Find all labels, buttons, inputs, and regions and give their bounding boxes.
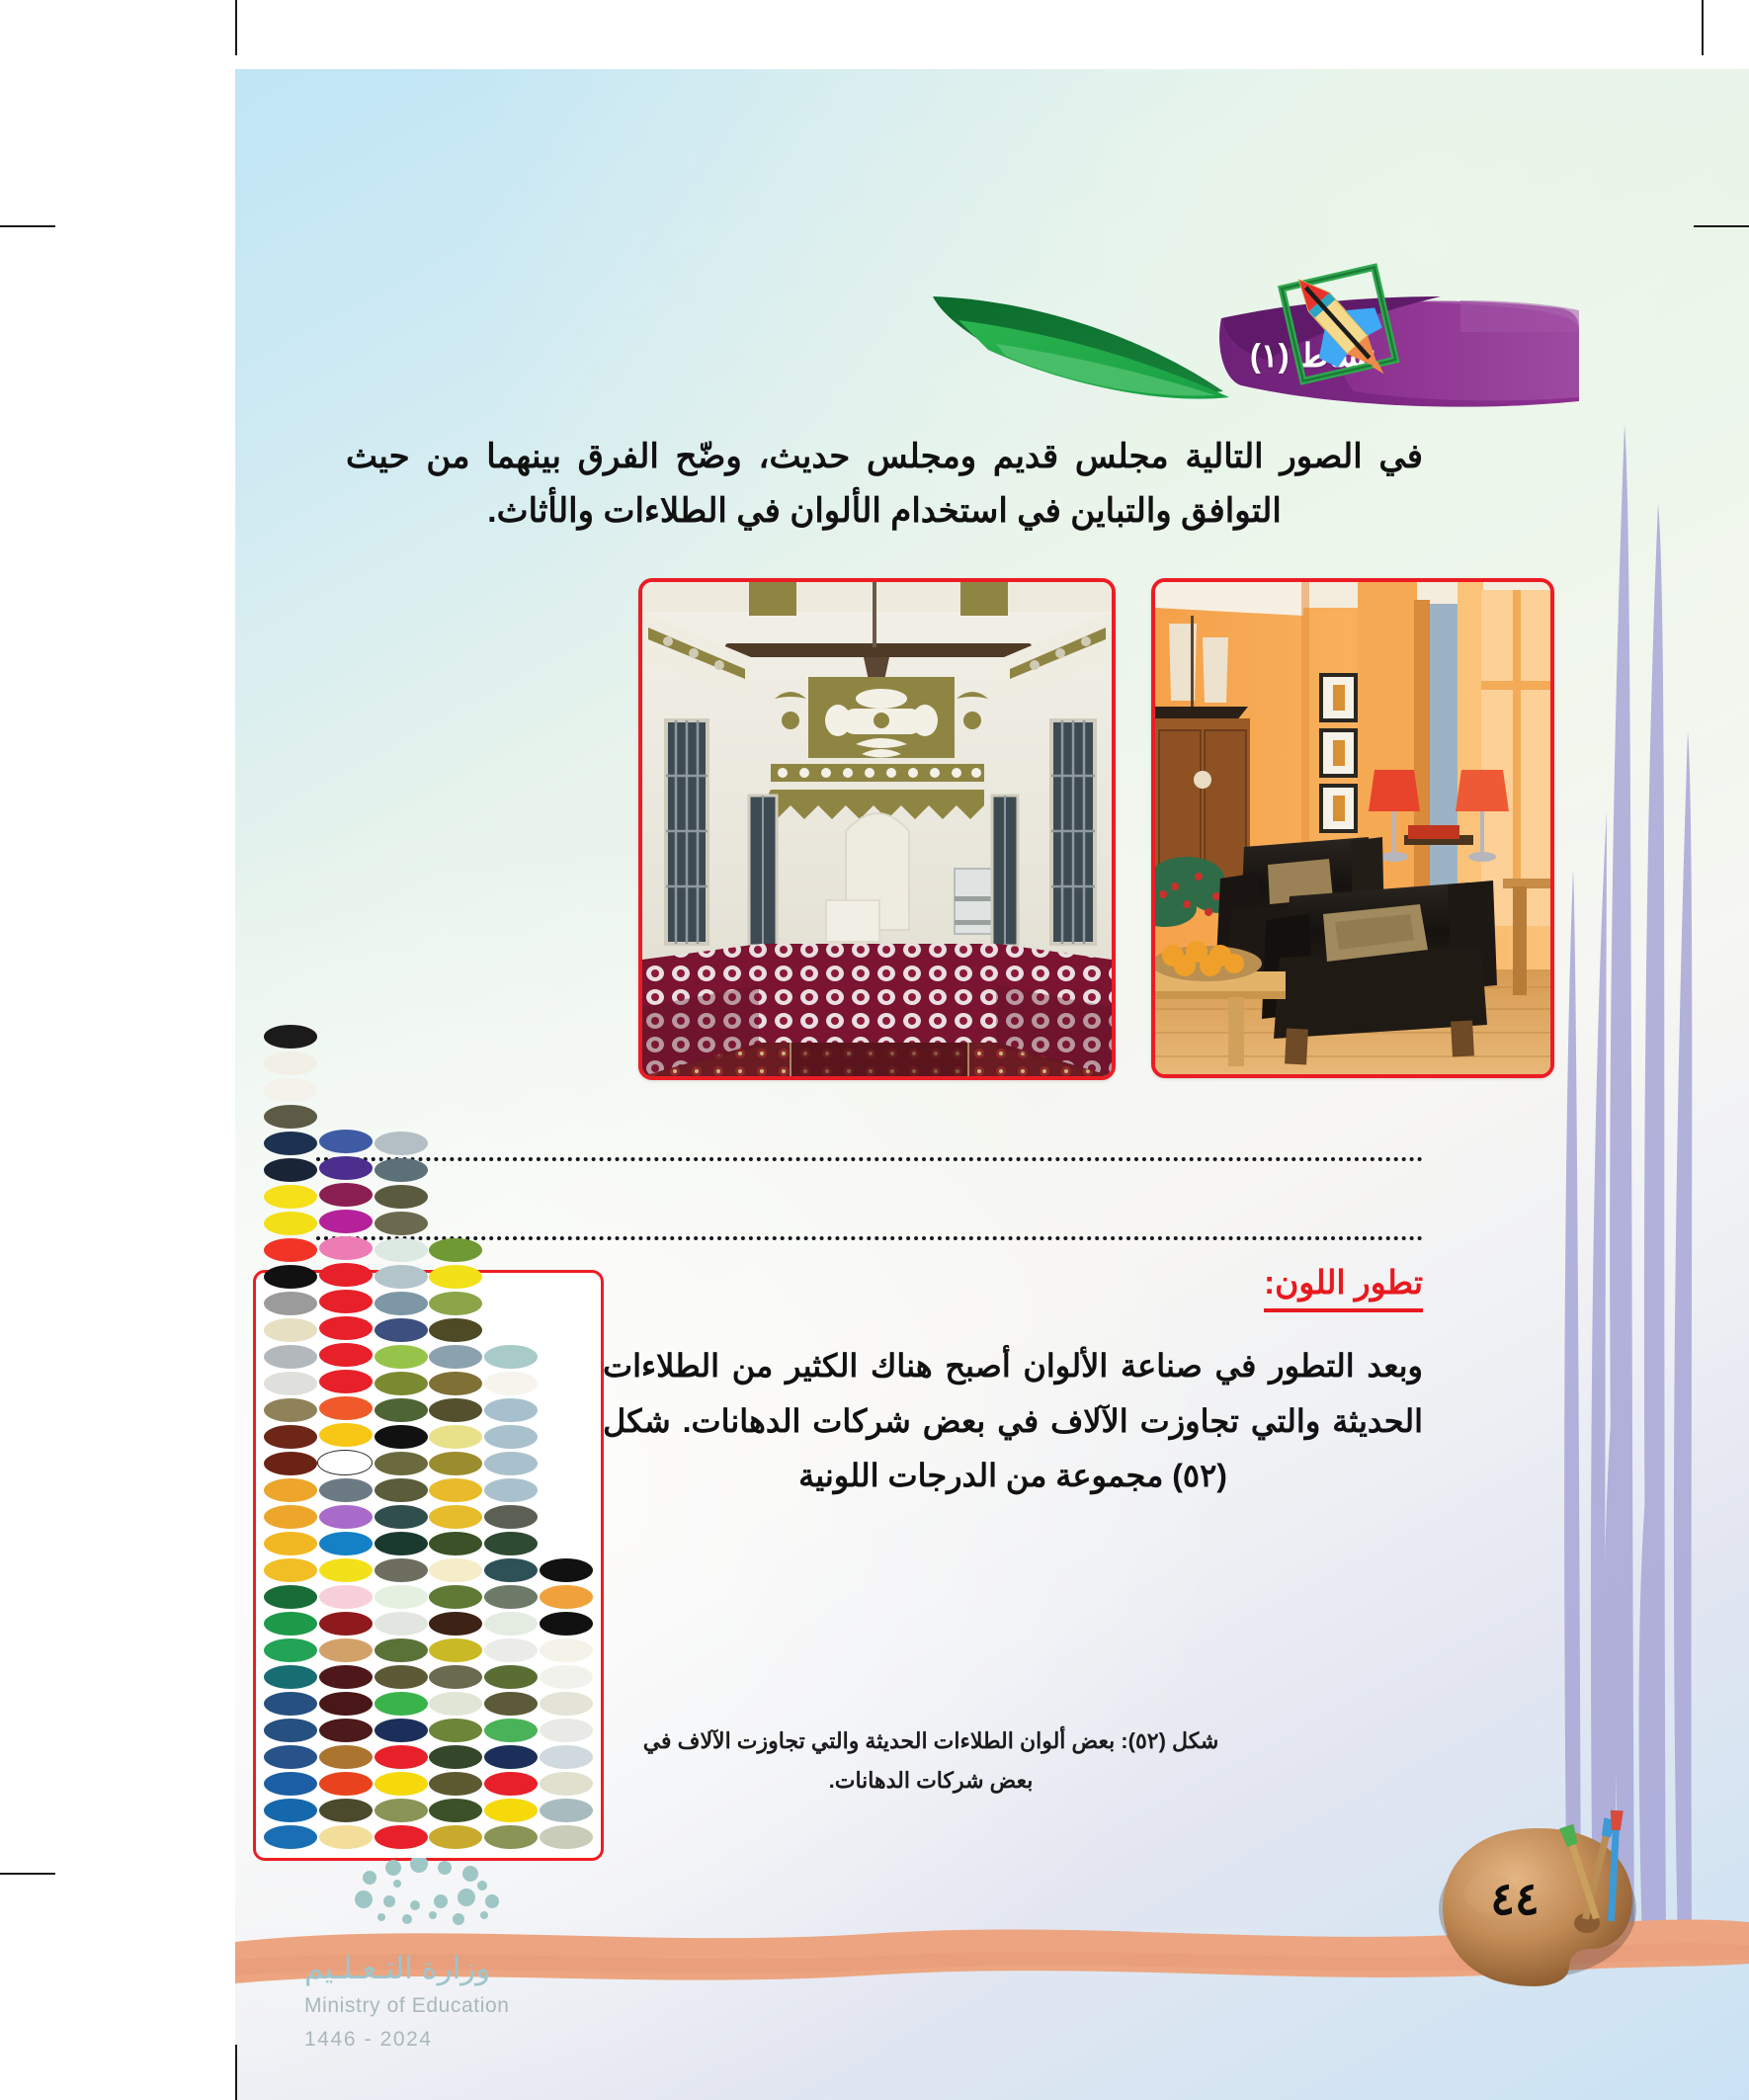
answer-line-2[interactable] bbox=[316, 1191, 1423, 1240]
color-swatch bbox=[484, 1825, 538, 1849]
color-swatch bbox=[484, 1585, 538, 1609]
color-swatch bbox=[375, 1478, 428, 1502]
color-swatch bbox=[319, 1612, 373, 1636]
rocket-pencil-icon bbox=[1266, 261, 1412, 389]
color-swatch bbox=[375, 1292, 428, 1315]
color-swatch bbox=[375, 1745, 428, 1769]
color-swatch bbox=[319, 1183, 373, 1207]
color-swatch bbox=[429, 1532, 482, 1555]
section-body-text: وبعد التطور في صناعة الألوان أصبح هناك ا… bbox=[603, 1339, 1423, 1504]
color-swatch bbox=[264, 1638, 317, 1662]
color-swatch bbox=[429, 1505, 482, 1529]
photo-row bbox=[235, 578, 1749, 1082]
color-swatch bbox=[375, 1212, 428, 1235]
color-swatch bbox=[319, 1638, 373, 1662]
color-swatch bbox=[264, 1825, 317, 1849]
color-swatch bbox=[429, 1692, 482, 1716]
color-swatch bbox=[375, 1452, 428, 1475]
color-swatch bbox=[264, 1745, 317, 1769]
color-swatch bbox=[319, 1558, 373, 1582]
color-swatch bbox=[319, 1343, 373, 1367]
color-swatch bbox=[429, 1452, 482, 1475]
color-swatch bbox=[484, 1532, 538, 1555]
color-swatch bbox=[375, 1398, 428, 1422]
color-swatch bbox=[375, 1238, 428, 1262]
color-swatch bbox=[264, 1719, 317, 1742]
color-swatch bbox=[484, 1638, 538, 1662]
figure-caption: شكل (٥٢): بعض ألوان الطلاءات الحديثة وال… bbox=[634, 1722, 1227, 1801]
swatch-column-3 bbox=[375, 1132, 428, 1849]
crop-mark-bottom-left-vertical bbox=[235, 2045, 237, 2100]
color-swatch bbox=[264, 1558, 317, 1582]
color-swatch bbox=[375, 1612, 428, 1636]
color-swatch bbox=[264, 1212, 317, 1235]
color-swatch bbox=[264, 1425, 317, 1449]
color-swatch bbox=[484, 1719, 538, 1742]
color-swatch bbox=[375, 1558, 428, 1582]
color-swatch bbox=[375, 1532, 428, 1555]
color-swatch bbox=[264, 1025, 317, 1049]
color-swatch bbox=[484, 1452, 538, 1475]
color-swatch bbox=[484, 1692, 538, 1716]
color-swatch bbox=[375, 1772, 428, 1796]
color-swatch bbox=[540, 1799, 593, 1822]
color-swatch bbox=[540, 1825, 593, 1849]
color-swatch bbox=[540, 1745, 593, 1769]
color-swatch bbox=[429, 1318, 482, 1342]
color-swatch bbox=[319, 1290, 373, 1313]
color-swatch bbox=[484, 1799, 538, 1822]
color-swatch bbox=[484, 1398, 538, 1422]
crop-mark-top-left-horizontal bbox=[0, 225, 55, 227]
activity-banner: نشاط (١) bbox=[927, 275, 1579, 423]
traditional-majlis-photo bbox=[638, 578, 1116, 1080]
color-swatch bbox=[429, 1612, 482, 1636]
page-number-badge: ٤٤ bbox=[1421, 1808, 1668, 1996]
page-number: ٤٤ bbox=[1421, 1872, 1609, 1925]
color-swatch bbox=[319, 1692, 373, 1716]
color-swatch bbox=[429, 1558, 482, 1582]
color-swatch bbox=[375, 1132, 428, 1155]
color-swatch bbox=[319, 1370, 373, 1393]
color-swatch bbox=[429, 1745, 482, 1769]
color-swatch bbox=[319, 1156, 373, 1180]
crop-mark-top-left-vertical bbox=[235, 0, 237, 55]
color-swatch bbox=[375, 1825, 428, 1849]
color-swatch bbox=[319, 1396, 373, 1420]
color-swatch bbox=[484, 1665, 538, 1689]
color-swatch bbox=[264, 1799, 317, 1822]
color-swatch bbox=[429, 1345, 482, 1369]
color-swatch bbox=[540, 1772, 593, 1796]
color-swatch bbox=[375, 1372, 428, 1395]
color-swatch bbox=[429, 1719, 482, 1742]
color-swatch bbox=[484, 1372, 538, 1395]
color-swatch bbox=[319, 1745, 373, 1769]
textbook-page: نشاط (١) في الصور التالية مجلس قديم ومجل… bbox=[235, 69, 1749, 2100]
color-swatch bbox=[484, 1478, 538, 1502]
color-swatch bbox=[429, 1292, 482, 1315]
swatch-grid bbox=[264, 1282, 593, 1849]
ministry-name-english: Ministry of Education bbox=[304, 1994, 510, 2018]
color-swatch bbox=[375, 1585, 428, 1609]
color-swatch bbox=[540, 1665, 593, 1689]
color-swatch bbox=[484, 1745, 538, 1769]
color-swatch bbox=[375, 1318, 428, 1342]
modern-living-room-photo bbox=[1151, 578, 1554, 1078]
color-swatch bbox=[540, 1612, 593, 1636]
color-swatch bbox=[319, 1236, 373, 1260]
color-swatch bbox=[484, 1425, 538, 1449]
color-swatch bbox=[375, 1692, 428, 1716]
swatch-column-1 bbox=[264, 1025, 317, 1849]
color-swatch bbox=[319, 1478, 373, 1502]
color-swatch bbox=[264, 1478, 317, 1502]
color-swatch bbox=[319, 1532, 373, 1555]
color-swatch bbox=[264, 1238, 317, 1262]
swatch-column-2 bbox=[319, 1130, 373, 1849]
color-swatch bbox=[429, 1265, 482, 1289]
crop-mark-top-right-horizontal bbox=[1694, 225, 1749, 227]
color-swatch bbox=[375, 1799, 428, 1822]
ministry-logo: وزارة التـعـلـيم Ministry of Education 2… bbox=[294, 1858, 611, 2070]
color-swatch bbox=[429, 1425, 482, 1449]
color-swatch bbox=[264, 1292, 317, 1315]
color-swatch bbox=[375, 1505, 428, 1529]
color-swatch bbox=[319, 1210, 373, 1233]
color-swatch bbox=[264, 1345, 317, 1369]
color-swatch bbox=[429, 1372, 482, 1395]
color-swatch bbox=[375, 1719, 428, 1742]
color-swatch bbox=[484, 1345, 538, 1369]
color-swatch bbox=[540, 1638, 593, 1662]
color-swatch-chart bbox=[253, 1270, 604, 1861]
color-swatch bbox=[264, 1185, 317, 1209]
color-swatch bbox=[319, 1799, 373, 1822]
color-swatch bbox=[319, 1665, 373, 1689]
color-swatch bbox=[264, 1372, 317, 1395]
color-swatch bbox=[264, 1105, 317, 1129]
color-swatch bbox=[375, 1158, 428, 1182]
answer-lines bbox=[316, 1112, 1423, 1240]
ministry-name-arabic: وزارة التـعـلـيم bbox=[304, 1951, 490, 1986]
swatch-column-4 bbox=[429, 1238, 482, 1849]
color-swatch bbox=[319, 1585, 373, 1609]
color-swatch bbox=[319, 1263, 373, 1287]
color-swatch bbox=[429, 1478, 482, 1502]
color-swatch bbox=[264, 1532, 317, 1555]
color-swatch bbox=[317, 1450, 373, 1475]
color-swatch bbox=[264, 1265, 317, 1289]
color-swatch bbox=[264, 1132, 317, 1155]
color-swatch bbox=[375, 1638, 428, 1662]
color-swatch bbox=[264, 1505, 317, 1529]
color-swatch bbox=[375, 1425, 428, 1449]
crop-mark-top-right-vertical bbox=[1702, 0, 1704, 55]
color-swatch bbox=[375, 1185, 428, 1209]
section-heading: تطور اللون: bbox=[1264, 1263, 1423, 1312]
color-swatch bbox=[429, 1799, 482, 1822]
color-swatch bbox=[429, 1238, 482, 1262]
color-swatch bbox=[264, 1585, 317, 1609]
swatch-column-6 bbox=[540, 1558, 593, 1849]
color-swatch bbox=[429, 1772, 482, 1796]
activity-prompt: في الصور التالية مجلس قديم ومجلس حديث، و… bbox=[346, 430, 1423, 539]
color-swatch bbox=[429, 1585, 482, 1609]
color-swatch bbox=[540, 1692, 593, 1716]
color-swatch bbox=[429, 1638, 482, 1662]
color-swatch bbox=[484, 1612, 538, 1636]
color-swatch bbox=[484, 1505, 538, 1529]
color-swatch bbox=[264, 1051, 317, 1075]
crop-mark-bottom-left-horizontal bbox=[0, 1873, 55, 1875]
color-swatch bbox=[375, 1265, 428, 1289]
color-swatch bbox=[319, 1825, 373, 1849]
color-swatch bbox=[375, 1665, 428, 1689]
color-swatch bbox=[319, 1423, 373, 1447]
color-swatch bbox=[540, 1719, 593, 1742]
color-swatch bbox=[264, 1318, 317, 1342]
ministry-dots-icon bbox=[334, 1858, 581, 1947]
color-swatch bbox=[540, 1585, 593, 1609]
color-swatch bbox=[264, 1452, 317, 1475]
color-swatch bbox=[264, 1692, 317, 1716]
color-swatch bbox=[264, 1078, 317, 1102]
color-swatch bbox=[429, 1398, 482, 1422]
swatch-column-5 bbox=[484, 1345, 538, 1849]
color-swatch bbox=[429, 1665, 482, 1689]
color-swatch bbox=[319, 1719, 373, 1742]
answer-line-1[interactable] bbox=[316, 1112, 1423, 1161]
color-swatch bbox=[264, 1398, 317, 1422]
color-swatch bbox=[264, 1158, 317, 1182]
color-swatch bbox=[375, 1345, 428, 1369]
color-swatch bbox=[319, 1316, 373, 1340]
color-swatch bbox=[319, 1772, 373, 1796]
color-swatch bbox=[484, 1558, 538, 1582]
color-swatch bbox=[429, 1825, 482, 1849]
color-swatch bbox=[319, 1130, 373, 1153]
color-swatch bbox=[264, 1772, 317, 1796]
color-swatch bbox=[319, 1505, 373, 1529]
color-swatch bbox=[484, 1772, 538, 1796]
ministry-year: 2024 - 1446 bbox=[304, 2028, 433, 2052]
color-swatch bbox=[264, 1665, 317, 1689]
color-swatch bbox=[540, 1558, 593, 1582]
color-swatch bbox=[264, 1612, 317, 1636]
